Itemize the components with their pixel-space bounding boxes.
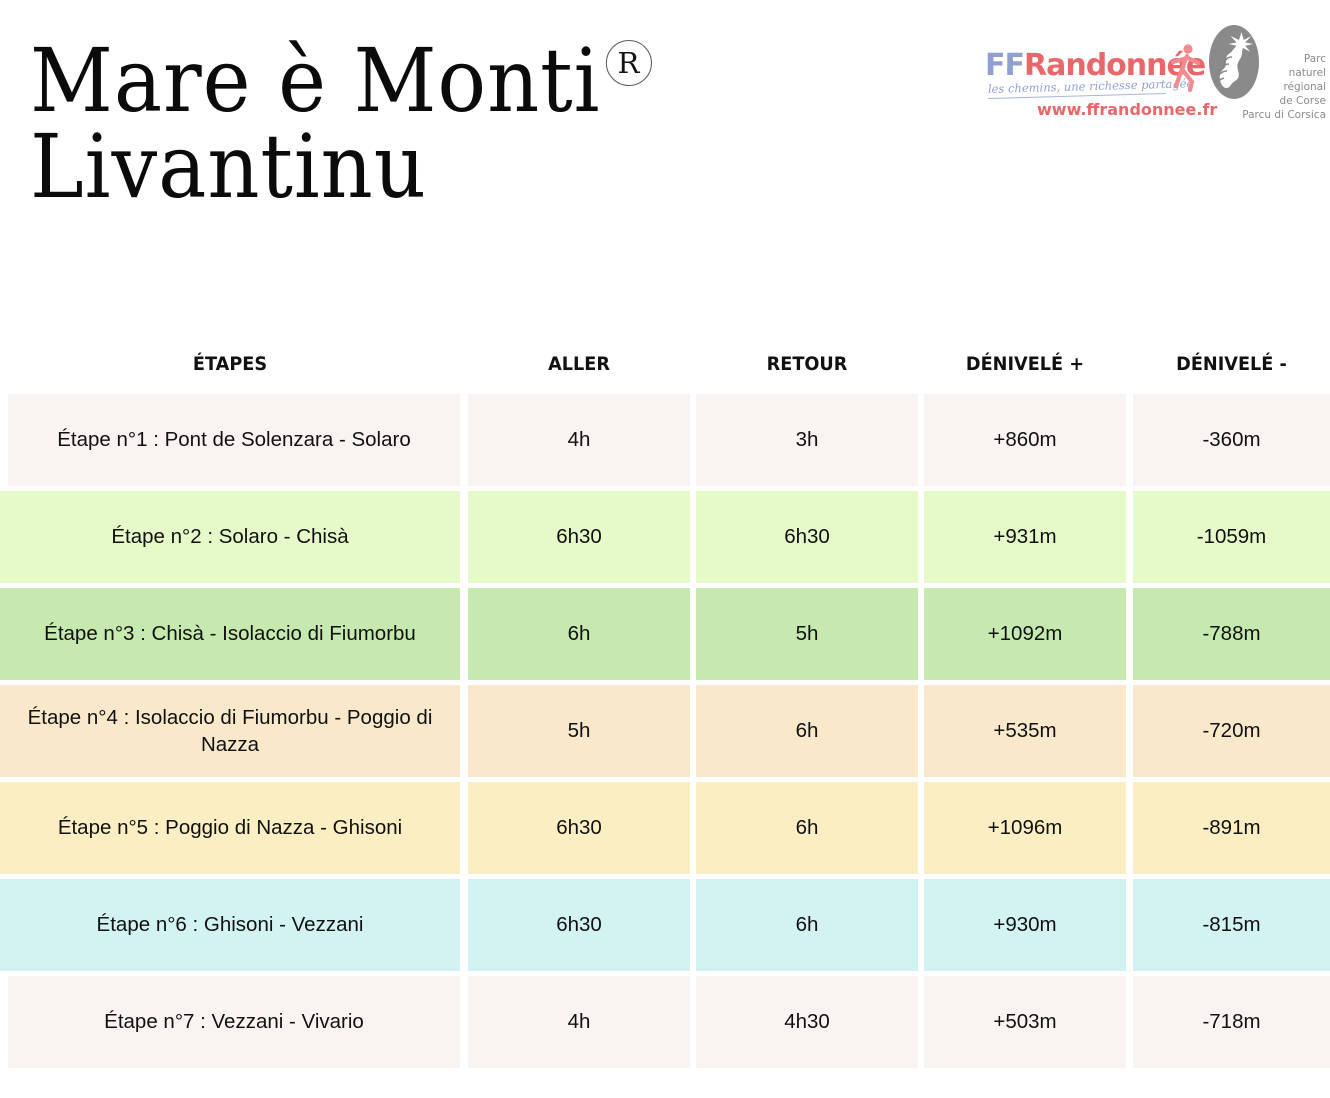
parc-logo-text: Parc naturel régional de Corse Parcu di … — [1188, 52, 1326, 122]
cell-aller: 5h — [468, 685, 690, 777]
cell-etape: Étape n°7 : Vezzani - Vivario — [8, 976, 460, 1068]
cell-etape: Étape n°4 : Isolaccio di Fiumorbu - Pogg… — [0, 685, 460, 777]
cell-retour: 6h — [696, 782, 918, 874]
document-header: Mare è Monti R Livantinu FFRandonnée les… — [0, 0, 1330, 300]
cell-etape: Étape n°3 : Chisà - Isolaccio di Fiumorb… — [0, 588, 460, 680]
page-title: Mare è Monti R Livantinu — [30, 38, 850, 210]
column-header-denivele-plus: DÉNIVELÉ + — [931, 336, 1119, 394]
table-row: Étape n°7 : Vezzani - Vivario 4h 4h30 +5… — [0, 976, 1330, 1068]
column-header-etapes: ÉTAPES — [16, 336, 444, 394]
table-row: Étape n°5 : Poggio di Nazza - Ghisoni 6h… — [0, 782, 1330, 874]
cell-denivele-plus: +930m — [924, 879, 1126, 971]
cell-retour: 5h — [696, 588, 918, 680]
ffrandonnee-logo: FFRandonnée les chemins, une richesse pa… — [985, 48, 1190, 110]
cell-denivele-minus: -360m — [1133, 394, 1330, 486]
column-header-retour: RETOUR — [704, 336, 910, 394]
cell-denivele-minus: -720m — [1133, 685, 1330, 777]
table-row: Étape n°1 : Pont de Solenzara - Solaro 4… — [0, 394, 1330, 486]
stages-table: ÉTAPES ALLER RETOUR DÉNIVELÉ + DÉNIVELÉ … — [0, 336, 1330, 1073]
cell-denivele-minus: -788m — [1133, 588, 1330, 680]
cell-denivele-minus: -815m — [1133, 879, 1330, 971]
parc-naturel-regional-corse-logo: Parc naturel régional de Corse Parcu di … — [1208, 24, 1326, 124]
registered-trademark-icon: R — [606, 40, 652, 86]
parc-logo-line-1: Parc — [1188, 52, 1326, 66]
title-line-1-wrapper: Mare è Monti R — [30, 38, 784, 124]
cell-denivele-minus: -891m — [1133, 782, 1330, 874]
cell-retour: 6h30 — [696, 491, 918, 583]
parc-logo-line-2: naturel — [1188, 66, 1326, 80]
cell-aller: 4h — [468, 394, 690, 486]
cell-retour: 6h — [696, 685, 918, 777]
table-row: Étape n°6 : Ghisoni - Vezzani 6h30 6h +9… — [0, 879, 1330, 971]
ffrandonnee-ff-text: FF — [985, 48, 1024, 83]
cell-retour: 4h30 — [696, 976, 918, 1068]
table-row: Étape n°4 : Isolaccio di Fiumorbu - Pogg… — [0, 685, 1330, 777]
parc-logo-line-3: régional — [1188, 80, 1326, 94]
cell-aller: 6h30 — [468, 879, 690, 971]
table-header-row: ÉTAPES ALLER RETOUR DÉNIVELÉ + DÉNIVELÉ … — [0, 336, 1330, 394]
title-line-2-text: Livantinu — [30, 124, 784, 210]
cell-retour: 3h — [696, 394, 918, 486]
cell-etape: Étape n°6 : Ghisoni - Vezzani — [0, 879, 460, 971]
cell-etape: Étape n°5 : Poggio di Nazza - Ghisoni — [0, 782, 460, 874]
cell-denivele-plus: +535m — [924, 685, 1126, 777]
table-row: Étape n°3 : Chisà - Isolaccio di Fiumorb… — [0, 588, 1330, 680]
column-header-aller: ALLER — [476, 336, 682, 394]
cell-denivele-plus: +1096m — [924, 782, 1126, 874]
title-line-1-text-group: Mare è Monti R — [30, 38, 600, 124]
cell-denivele-plus: +931m — [924, 491, 1126, 583]
cell-aller: 6h30 — [468, 782, 690, 874]
cell-aller: 6h30 — [468, 491, 690, 583]
parc-logo-line-4: de Corse — [1188, 94, 1326, 108]
table-row: Étape n°2 : Solaro - Chisà 6h30 6h30 +93… — [0, 491, 1330, 583]
cell-retour: 6h — [696, 879, 918, 971]
cell-aller: 4h — [468, 976, 690, 1068]
ffrandonnee-tagline: les chemins, une richesse partagée — [988, 77, 1166, 99]
column-header-denivele-minus: DÉNIVELÉ - — [1140, 336, 1323, 394]
parc-logo-line-5: Parcu di Corsica — [1188, 108, 1326, 122]
cell-etape: Étape n°1 : Pont de Solenzara - Solaro — [8, 394, 460, 486]
cell-denivele-plus: +1092m — [924, 588, 1126, 680]
cell-etape: Étape n°2 : Solaro - Chisà — [0, 491, 460, 583]
cell-denivele-plus: +860m — [924, 394, 1126, 486]
cell-denivele-minus: -718m — [1133, 976, 1330, 1068]
cell-aller: 6h — [468, 588, 690, 680]
cell-denivele-plus: +503m — [924, 976, 1126, 1068]
cell-denivele-minus: -1059m — [1133, 491, 1330, 583]
